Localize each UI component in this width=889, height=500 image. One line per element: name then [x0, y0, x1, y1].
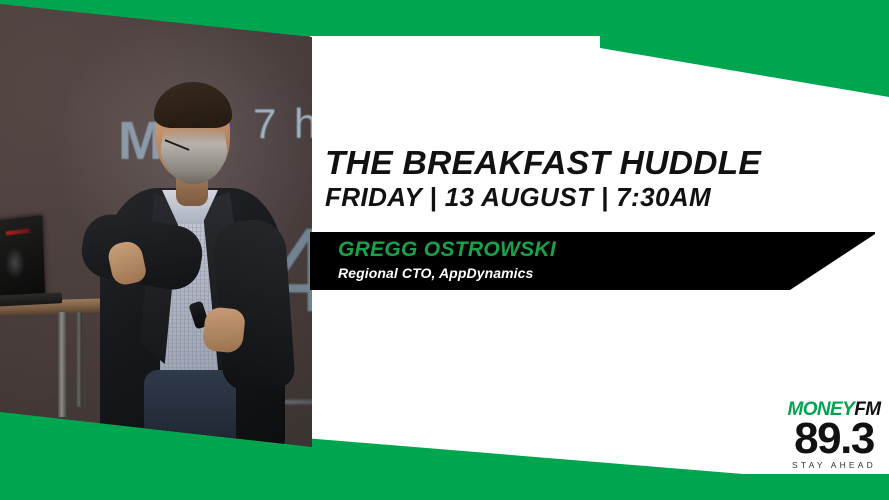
speaker-figure — [92, 70, 302, 430]
podium-stem — [58, 312, 67, 417]
hair — [154, 82, 232, 128]
promo-graphic: M 7 ho 4 — [0, 0, 889, 500]
eye-right — [192, 123, 201, 128]
speaker-role: Regional CTO, AppDynamics — [338, 265, 533, 281]
eye-left — [168, 123, 177, 128]
show-schedule: FRIDAY | 13 AUGUST | 7:30AM — [325, 184, 845, 211]
arm-lowered — [212, 218, 296, 393]
logo-frequency: 89.3 — [784, 417, 884, 462]
station-logo: MONEYFM 89.3 STAY AHEAD — [784, 400, 884, 470]
logo-tagline: STAY AHEAD — [784, 460, 884, 470]
show-title: THE BREAKFAST HUDDLE — [325, 146, 855, 180]
headline-block: THE BREAKFAST HUDDLE FRIDAY | 13 AUGUST … — [325, 146, 845, 212]
speaker-banner: GREGG OSTROWSKI Regional CTO, AppDynamic… — [310, 232, 875, 290]
speaker-name: GREGG OSTROWSKI — [338, 238, 556, 262]
laptop-screen-glow — [6, 248, 24, 278]
hand-lowered — [202, 306, 246, 354]
beard — [160, 128, 228, 184]
podium-stem-secondary — [76, 312, 82, 407]
